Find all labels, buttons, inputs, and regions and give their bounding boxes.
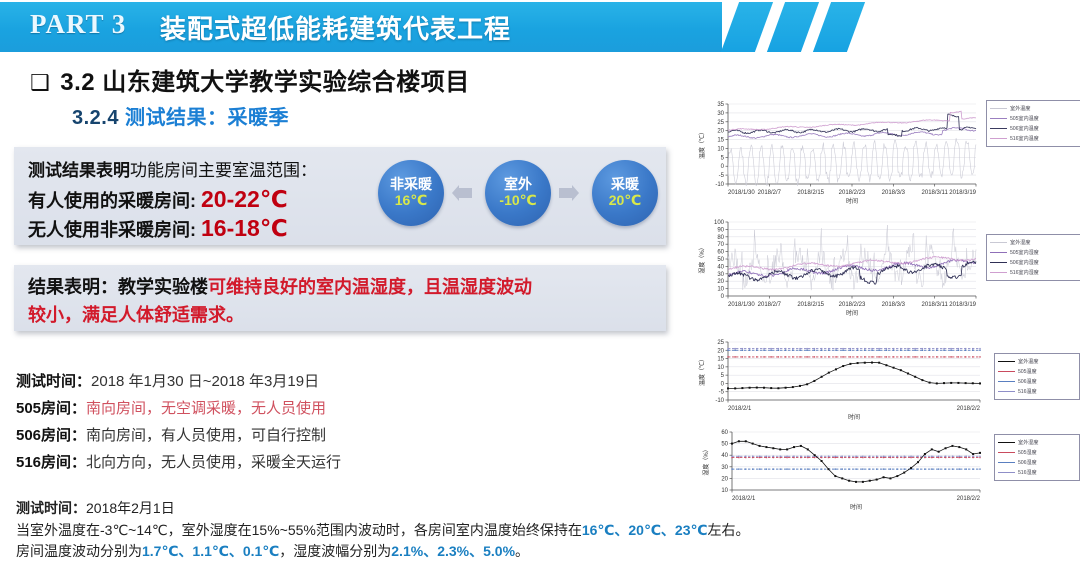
list-item: 506房间：南向房间，有人员使用，可自行控制 bbox=[16, 424, 656, 451]
legend-item: 516室内湿度 bbox=[990, 268, 1078, 277]
bottom-p2-value-3: 0.1℃ bbox=[243, 543, 279, 559]
detail-key: 505房间： bbox=[16, 397, 86, 418]
svg-text:-10: -10 bbox=[715, 182, 724, 188]
legend-swatch bbox=[990, 118, 1007, 119]
svg-text:0: 0 bbox=[721, 164, 725, 170]
svg-text:0: 0 bbox=[721, 381, 725, 387]
header-stripe-1 bbox=[721, 2, 773, 52]
legend-label: 505温度 bbox=[1018, 368, 1037, 375]
svg-text:2018/2/1: 2018/2/1 bbox=[728, 406, 752, 412]
bottom-p2-text: 房间温度波动分别为 bbox=[16, 543, 142, 559]
detail-key: 测试时间： bbox=[16, 370, 91, 391]
legend-label: 505室内湿度 bbox=[1010, 249, 1039, 256]
svg-text:20: 20 bbox=[721, 476, 728, 482]
svg-text:时间: 时间 bbox=[850, 503, 862, 511]
legend-label: 室外湿度 bbox=[1010, 239, 1030, 246]
legend-swatch bbox=[998, 472, 1015, 473]
legend-swatch bbox=[990, 242, 1007, 243]
box1-line1: 测试结果表明功能房间主要室温范围： bbox=[28, 156, 317, 181]
bottom-time-label: 测试时间： bbox=[16, 500, 86, 516]
svg-text:10: 10 bbox=[717, 365, 724, 371]
bottom-p1-sep-1: 、 bbox=[614, 522, 628, 538]
legend-item: 506温度 bbox=[998, 377, 1076, 386]
svg-text:2018/3/19: 2018/3/19 bbox=[949, 302, 976, 308]
svg-text:5: 5 bbox=[721, 155, 725, 161]
svg-text:30: 30 bbox=[717, 111, 724, 117]
svg-text:10: 10 bbox=[721, 488, 728, 494]
svg-text:2018/3/19: 2018/3/19 bbox=[949, 190, 976, 196]
svg-text:25: 25 bbox=[717, 340, 724, 346]
svg-text:2018/2/1: 2018/2/1 bbox=[732, 496, 756, 502]
svg-text:2018/2/2: 2018/2/2 bbox=[957, 406, 981, 412]
legend-label: 室外温度 bbox=[1018, 358, 1038, 365]
header-stripe-2 bbox=[767, 2, 819, 52]
svg-text:时间: 时间 bbox=[846, 197, 858, 205]
chart-4-legend: 室外湿度505湿度506湿度516湿度 bbox=[994, 434, 1080, 481]
bottom-p1-sep-2: 、 bbox=[661, 522, 675, 538]
legend-swatch bbox=[998, 391, 1015, 392]
legend-item: 516温度 bbox=[998, 387, 1076, 396]
legend-swatch bbox=[998, 452, 1015, 453]
legend-item: 506室内湿度 bbox=[990, 258, 1078, 267]
bottom-p2-sep-2: 、 bbox=[229, 543, 243, 559]
svg-text:-10: -10 bbox=[715, 398, 724, 404]
detail-key: 516房间： bbox=[16, 451, 86, 472]
legend-swatch bbox=[998, 462, 1015, 463]
legend-swatch bbox=[990, 138, 1007, 139]
legend-item: 505湿度 bbox=[998, 448, 1076, 457]
svg-text:2018/2/7: 2018/2/7 bbox=[758, 302, 782, 308]
legend-swatch bbox=[990, 128, 1007, 129]
bottom-p2-sep-1: 、 bbox=[178, 543, 192, 559]
svg-text:2018/1/30: 2018/1/30 bbox=[728, 190, 755, 196]
zone-circle-heated-label: 采暖 bbox=[611, 177, 639, 193]
svg-text:20: 20 bbox=[717, 279, 724, 285]
legend-item: 505温度 bbox=[998, 367, 1076, 376]
legend-swatch bbox=[998, 361, 1015, 362]
svg-text:2018/1/30: 2018/1/30 bbox=[728, 302, 755, 308]
chart-season-temperature: -10-5051015202530352018/1/302018/2/72018… bbox=[686, 96, 1078, 214]
chart-3-legend: 室外温度505温度506温度516温度 bbox=[994, 353, 1080, 400]
svg-text:25: 25 bbox=[717, 120, 724, 126]
legend-item: 516室内温度 bbox=[990, 134, 1078, 143]
svg-text:100: 100 bbox=[714, 220, 725, 226]
conclusion-line2: 较小，满足人体舒适需求。 bbox=[28, 301, 244, 327]
svg-text:2018/2/15: 2018/2/15 bbox=[797, 190, 824, 196]
header-stripe-3 bbox=[813, 2, 865, 52]
svg-text:90: 90 bbox=[717, 227, 724, 233]
svg-text:80: 80 bbox=[717, 235, 724, 241]
box1-line2-value: 20-22℃ bbox=[201, 186, 288, 212]
svg-text:60: 60 bbox=[721, 430, 728, 436]
legend-item: 室外湿度 bbox=[990, 238, 1078, 247]
svg-text:-5: -5 bbox=[719, 390, 725, 396]
bottom-p2-value-5: 2.3% bbox=[437, 543, 469, 559]
detail-key: 506房间： bbox=[16, 424, 86, 445]
chart-2-legend: 室外湿度505室内湿度506室内湿度516室内湿度 bbox=[986, 234, 1080, 281]
svg-text:2018/2/23: 2018/2/23 bbox=[839, 190, 866, 196]
box1-line2: 有人使用的采暖房间: 20-22℃ bbox=[28, 186, 288, 213]
conclusion-highlight-2: 较小，满足人体舒适需求。 bbox=[28, 305, 244, 325]
svg-text:2018/2/2: 2018/2/2 bbox=[957, 496, 981, 502]
bottom-p2-value-1: 1.7℃ bbox=[142, 543, 178, 559]
legend-label: 506温度 bbox=[1018, 378, 1037, 385]
zone-circle-heated: 采暖 20℃ bbox=[592, 160, 658, 226]
conclusion-highlight-1: 可维持良好的室内温湿度，且温湿度波动 bbox=[208, 277, 532, 297]
legend-item: 506室内温度 bbox=[990, 124, 1078, 133]
bottom-p1-value-2: 20℃ bbox=[628, 522, 661, 538]
svg-text:50: 50 bbox=[721, 442, 728, 448]
svg-text:50: 50 bbox=[717, 257, 724, 263]
svg-text:60: 60 bbox=[717, 250, 724, 256]
svg-text:10: 10 bbox=[717, 287, 724, 293]
zone-circle-unheated-temp: 16℃ bbox=[395, 193, 428, 209]
bottom-p1-end: 左右。 bbox=[707, 522, 749, 538]
legend-item: 516湿度 bbox=[998, 468, 1076, 477]
list-item: 516房间：北向方向，无人员使用，采暖全天运行 bbox=[16, 451, 656, 478]
zone-circle-unheated-label: 非采暖 bbox=[390, 177, 432, 193]
legend-item: 室外湿度 bbox=[998, 438, 1076, 447]
legend-swatch bbox=[990, 108, 1007, 109]
bottom-p2-sep-3: 、 bbox=[423, 543, 437, 559]
svg-text:40: 40 bbox=[717, 264, 724, 270]
svg-text:时间: 时间 bbox=[848, 413, 860, 421]
box1-line3-value: 16-18℃ bbox=[201, 215, 288, 241]
list-item: 505房间：南向房间，无空调采暖，无人员使用 bbox=[16, 397, 656, 424]
section-heading-text: 3.2 山东建筑大学教学实验综合楼项目 bbox=[60, 69, 470, 96]
legend-label: 506湿度 bbox=[1018, 459, 1037, 466]
bottom-p1-text: 当室外温度在-3℃~14℃，室外湿度在15%~55%范围内波动时，各房间室内温度… bbox=[16, 522, 582, 538]
bottom-time-value: 2018年2月1日 bbox=[86, 500, 175, 516]
legend-swatch bbox=[990, 262, 1007, 263]
subsection-number: 3.2.4 bbox=[72, 107, 119, 129]
svg-text:30: 30 bbox=[717, 272, 724, 278]
zone-circle-unheated: 非采暖 16℃ bbox=[378, 160, 444, 226]
bottom-p2-sep-4: 、 bbox=[469, 543, 483, 559]
legend-label: 505室内温度 bbox=[1010, 115, 1039, 122]
svg-text:-5: -5 bbox=[719, 173, 725, 179]
box1-line3: 无人使用非采暖房间: 16-18℃ bbox=[28, 215, 288, 242]
bottom-row-1: 当室外温度在-3℃~14℃，室外湿度在15%~55%范围内波动时，各房间室内温度… bbox=[16, 520, 1066, 542]
detail-value: 北向方向，无人员使用，采暖全天运行 bbox=[86, 454, 341, 471]
subsection-title: 测试结果：采暖季 bbox=[125, 107, 289, 129]
zone-circle-heated-temp: 20℃ bbox=[609, 193, 642, 209]
legend-label: 516湿度 bbox=[1018, 469, 1037, 476]
conclusion-line1: 结果表明：教学实验楼可维持良好的室内温湿度，且温湿度波动 bbox=[28, 273, 532, 299]
temperature-zone-diagram: 非采暖 16℃ 室外 -10℃ 采暖 20℃ bbox=[378, 160, 658, 230]
zone-circle-outdoor-label: 室外 bbox=[504, 177, 532, 193]
bottom-p2-value-6: 5.0% bbox=[483, 543, 515, 559]
conclusion-box: 结果表明：教学实验楼可维持良好的室内温湿度，且温湿度波动 较小，满足人体舒适需求… bbox=[14, 265, 666, 331]
detail-value: 南向房间，有人员使用，可自行控制 bbox=[86, 427, 326, 444]
svg-text:40: 40 bbox=[721, 453, 728, 459]
test-details-list: 测试时间：2018 年1月30 日~2018 年3月19日 505房间：南向房间… bbox=[16, 370, 656, 478]
svg-text:10: 10 bbox=[717, 146, 724, 152]
legend-label: 516室内温度 bbox=[1010, 135, 1039, 142]
chart-day-temperature: -10-505101520252018/2/12018/2/2时间温度（℃） 室… bbox=[686, 336, 1078, 426]
zone-circle-outdoor: 室外 -10℃ bbox=[485, 160, 551, 226]
legend-label: 516温度 bbox=[1018, 388, 1037, 395]
svg-text:湿度（%）: 湿度（%） bbox=[698, 244, 706, 273]
part-label: PART 3 bbox=[30, 9, 126, 40]
arrow-left-icon bbox=[451, 184, 473, 202]
chart-1-legend: 室外温度505室内温度506室内温度516室内温度 bbox=[986, 100, 1080, 147]
box1-line3-label: 无人使用非采暖房间: bbox=[28, 220, 196, 240]
subsection-heading: 3.2.4 测试结果：采暖季 bbox=[72, 101, 289, 130]
svg-text:2018/3/11: 2018/3/11 bbox=[922, 190, 949, 196]
svg-text:2018/3/11: 2018/3/11 bbox=[922, 302, 949, 308]
box1-line2-label: 有人使用的采暖房间: bbox=[28, 191, 196, 211]
legend-swatch bbox=[998, 381, 1015, 382]
part-title: 装配式超低能耗建筑代表工程 bbox=[160, 9, 511, 46]
svg-text:5: 5 bbox=[721, 373, 725, 379]
legend-swatch bbox=[990, 252, 1007, 253]
legend-item: 505室内温度 bbox=[990, 114, 1078, 123]
bottom-p1-value-3: 23℃ bbox=[675, 522, 708, 538]
svg-text:15: 15 bbox=[717, 138, 724, 144]
legend-swatch bbox=[998, 371, 1015, 372]
svg-text:温度（℃）: 温度（℃） bbox=[698, 356, 706, 386]
legend-label: 506室内温度 bbox=[1010, 125, 1039, 132]
svg-text:30: 30 bbox=[721, 465, 728, 471]
bottom-p2-value-2: 1.1℃ bbox=[192, 543, 228, 559]
legend-label: 506室内湿度 bbox=[1010, 259, 1039, 266]
detail-value: 南向房间，无空调采暖，无人员使用 bbox=[86, 400, 326, 417]
chart-day-humidity: 1020304050602018/2/12018/2/2时间湿度（%） 室外湿度… bbox=[686, 426, 1078, 516]
svg-text:2018/2/7: 2018/2/7 bbox=[758, 190, 782, 196]
bottom-p2-mid: ，湿度波幅分别为 bbox=[279, 543, 391, 559]
section-heading: ❑3.2 山东建筑大学教学实验综合楼项目 bbox=[30, 62, 470, 97]
svg-text:35: 35 bbox=[717, 102, 724, 108]
bottom-p2-end: 。 bbox=[515, 543, 529, 559]
detail-value: 2018 年1月30 日~2018 年3月19日 bbox=[91, 373, 319, 390]
bullet-square-icon: ❑ bbox=[30, 70, 50, 95]
legend-item: 505室内湿度 bbox=[990, 248, 1078, 257]
legend-label: 505湿度 bbox=[1018, 449, 1037, 456]
svg-text:15: 15 bbox=[717, 357, 724, 363]
legend-swatch bbox=[990, 272, 1007, 273]
legend-label: 516室内湿度 bbox=[1010, 269, 1039, 276]
box1-line1-bold: 测试结果表明 bbox=[28, 161, 130, 180]
zone-circle-outdoor-temp: -10℃ bbox=[499, 193, 536, 209]
legend-item: 室外温度 bbox=[990, 104, 1078, 113]
box1-line1-rest: 功能房间主要室温范围： bbox=[130, 161, 317, 180]
svg-text:70: 70 bbox=[717, 242, 724, 248]
svg-text:2018/2/15: 2018/2/15 bbox=[797, 302, 824, 308]
legend-item: 506湿度 bbox=[998, 458, 1076, 467]
legend-swatch bbox=[998, 442, 1015, 443]
svg-text:温度（℃）: 温度（℃） bbox=[698, 129, 706, 159]
arrow-right-icon bbox=[558, 184, 580, 202]
conclusion-lead: 结果表明：教学实验楼 bbox=[28, 277, 208, 297]
legend-label: 室外温度 bbox=[1010, 105, 1030, 112]
svg-text:0: 0 bbox=[721, 294, 725, 300]
bottom-row-2: 房间温度波动分别为1.7℃、1.1℃、0.1℃，湿度波幅分别为2.1%、2.3%… bbox=[16, 541, 1066, 563]
page-header: PART 3 装配式超低能耗建筑代表工程 bbox=[0, 2, 1080, 52]
list-item: 测试时间：2018 年1月30 日~2018 年3月19日 bbox=[16, 370, 656, 397]
svg-text:2018/3/3: 2018/3/3 bbox=[882, 190, 906, 196]
chart-season-humidity: 01020304050607080901002018/1/302018/2/72… bbox=[686, 216, 1078, 328]
svg-text:20: 20 bbox=[717, 348, 724, 354]
legend-label: 室外湿度 bbox=[1018, 439, 1038, 446]
svg-text:2018/3/3: 2018/3/3 bbox=[882, 302, 906, 308]
svg-text:20: 20 bbox=[717, 129, 724, 135]
bottom-p2-value-4: 2.1% bbox=[391, 543, 423, 559]
legend-item: 室外温度 bbox=[998, 357, 1076, 366]
bottom-p1-value-1: 16℃ bbox=[582, 522, 615, 538]
svg-text:湿度（%）: 湿度（%） bbox=[702, 446, 710, 475]
svg-text:2018/2/23: 2018/2/23 bbox=[839, 302, 866, 308]
svg-text:时间: 时间 bbox=[846, 309, 858, 317]
